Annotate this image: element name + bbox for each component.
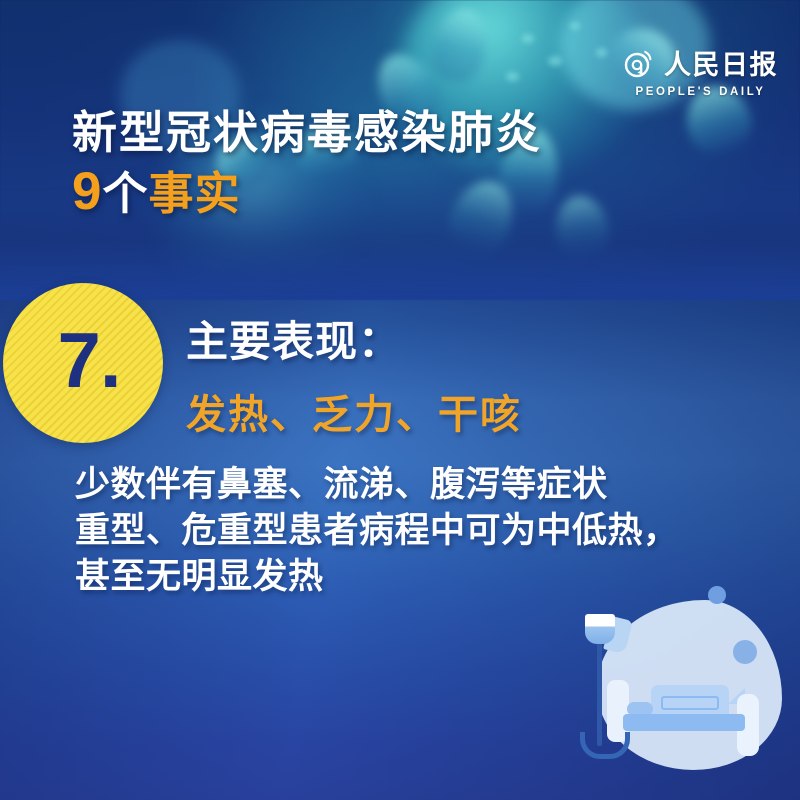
hospital-bed-iv-drip-illustration <box>545 588 795 800</box>
publisher-logo: 人民日报 PEOPLE'S DAILY <box>623 48 778 99</box>
iv-pole-icon <box>597 626 602 746</box>
virus-speck-icon <box>548 56 562 66</box>
fact-count-noun: 事实 <box>149 168 241 219</box>
page-title: 新型冠状病毒感染肺炎 <box>72 96 542 161</box>
bed-mattress-icon <box>623 714 745 731</box>
item-symptoms-highlight: 发热、乏力、干咳 <box>186 382 522 440</box>
virus-speck-icon <box>506 72 519 81</box>
fact-count-unit: 个 <box>102 168 148 219</box>
virus-speck-icon <box>522 34 534 43</box>
virus-spike-icon <box>551 192 613 262</box>
publisher-name-cn: 人民日报 <box>664 52 778 79</box>
detail-line: 重型、危重型患者病程中可为中低热， <box>75 508 775 554</box>
iv-pole-base-icon <box>580 732 630 759</box>
virus-speck-icon <box>570 22 580 30</box>
blanket-stripe-icon <box>661 696 719 710</box>
iv-bag-icon <box>585 614 615 644</box>
logo-primary-row: 人民日报 <box>623 48 778 82</box>
fact-count-subtitle: 9个事实 <box>72 157 241 222</box>
decorative-dot-icon <box>733 640 757 664</box>
fact-count-number: 9 <box>72 162 102 221</box>
virus-spike-icon <box>440 171 523 262</box>
item-number-badge: 7. <box>3 283 163 443</box>
at-sign-wifi-icon <box>623 48 657 82</box>
item-heading: 主要表现： <box>186 308 401 369</box>
infographic-poster: 人民日报 PEOPLE'S DAILY 新型冠状病毒感染肺炎 9个事实 7. 主… <box>0 0 800 800</box>
publisher-name-en: PEOPLE'S DAILY <box>635 87 765 99</box>
detail-line: 少数伴有鼻塞、流涕、腹泻等症状 <box>75 462 775 508</box>
virus-speck-icon <box>596 48 607 57</box>
item-detail-text: 少数伴有鼻塞、流涕、腹泻等症状 重型、危重型患者病程中可为中低热， 甚至无明显发… <box>75 462 775 600</box>
decorative-dot-icon <box>708 586 726 604</box>
item-number-label: 7. <box>57 321 120 399</box>
